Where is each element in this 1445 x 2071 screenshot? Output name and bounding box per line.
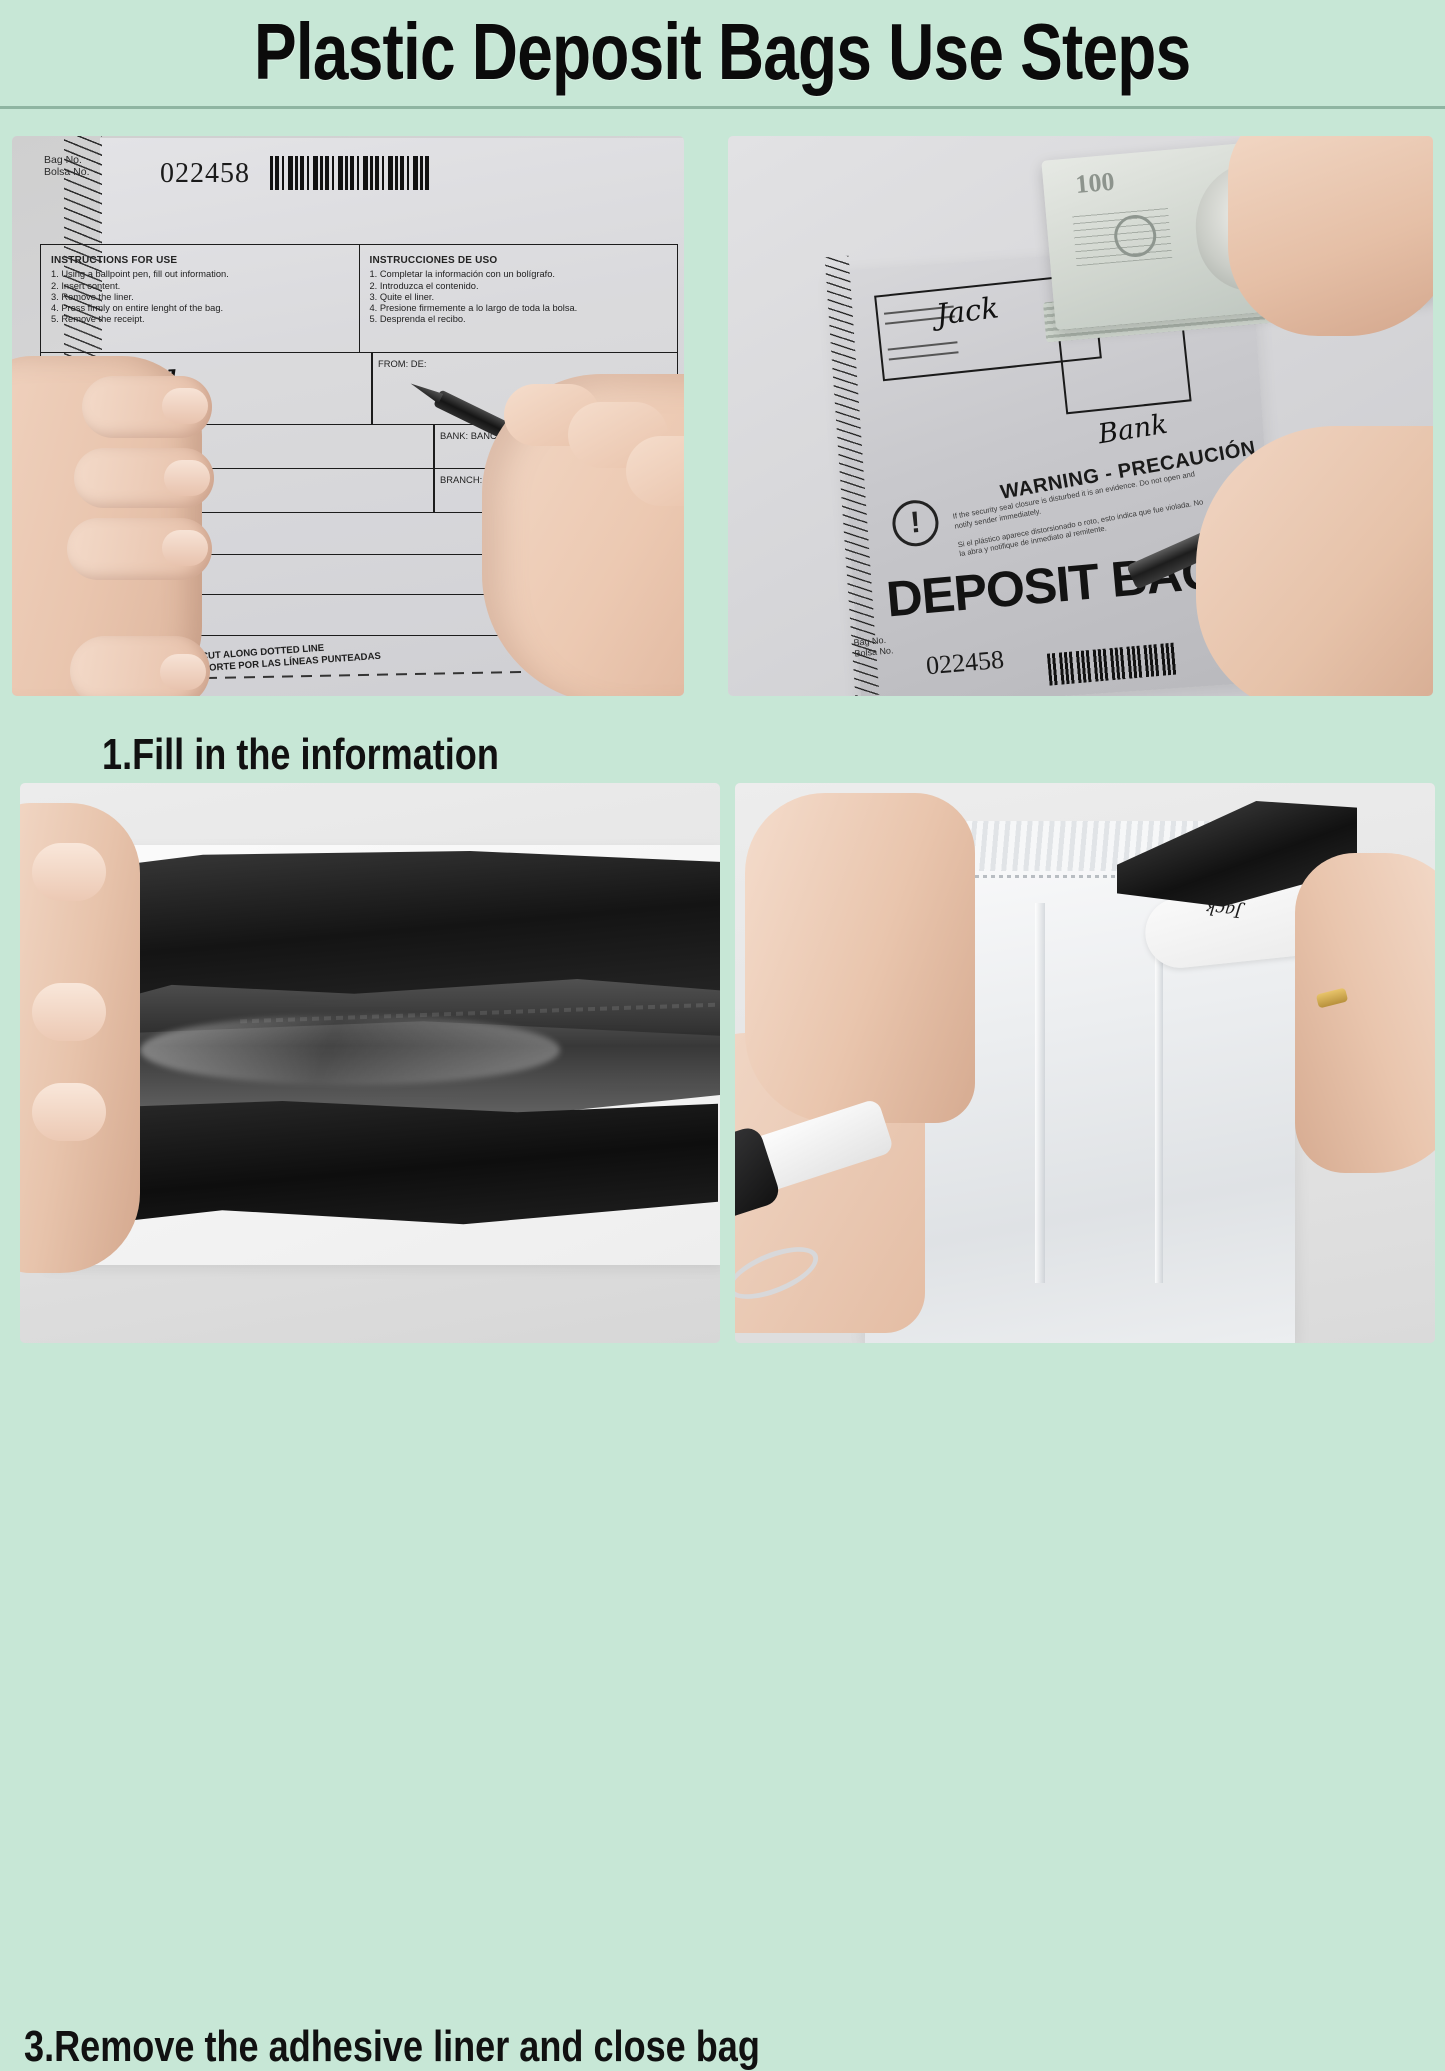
bag-no-label-es: Bolsa No. [44, 166, 90, 178]
step-1-photo: Bag No. Bolsa No. 022458 INSTRUCTIONS FO… [12, 136, 684, 696]
step-4-photo: Jack [735, 783, 1435, 1343]
instruction-item: 4. Presione firmemente a lo largo de tod… [370, 303, 670, 314]
instructions-block: INSTRUCTIONS FOR USE 1. Using a ballpoin… [41, 245, 677, 353]
bag-no-label-es: Bolsa No. [854, 645, 894, 658]
fingernail [160, 654, 206, 690]
hand-holding-cash [1228, 136, 1433, 336]
step-4-panel: Jack 4.Tear your receipt and send [735, 783, 1435, 1343]
fingernail [32, 1083, 106, 1141]
fingernail [162, 530, 208, 566]
instruction-item: 3. Quite el liner. [370, 292, 670, 303]
instruction-item: 1. Using a ballpoint pen, fill out infor… [51, 269, 351, 280]
instruction-item: 4. Press firmly on entire lenght of the … [51, 303, 351, 314]
instructions-es: INSTRUCCIONES DE USO 1. Completar la inf… [360, 245, 678, 352]
plastic-crease [1155, 943, 1163, 1283]
right-hand [1295, 853, 1435, 1173]
instruction-item: 2. Introduzca el contenido. [370, 281, 670, 292]
banknote-denomination: 100 [1074, 167, 1115, 200]
step-3-caption: 3.Remove the adhesive liner and close ba… [24, 2023, 760, 2071]
finger [74, 448, 214, 508]
fingernail [164, 460, 210, 496]
step-1-caption: 1.Fill in the information [102, 731, 499, 779]
instructions-en-heading: INSTRUCTIONS FOR USE [51, 255, 351, 266]
step-2-photo: Jack Bank ! WARNING - PRECAUCIÓN If the … [728, 136, 1433, 696]
page-title: Plastic Deposit Bags Use Steps [254, 12, 1190, 92]
bag-no-label: Bag No. Bolsa No. [853, 634, 894, 659]
barcode-icon [270, 156, 430, 190]
finger [82, 376, 212, 438]
page-header: Plastic Deposit Bags Use Steps [0, 0, 1445, 104]
instructions-en-list: 1. Using a ballpoint pen, fill out infor… [51, 269, 351, 325]
steps-grid: Bag No. Bolsa No. 022458 INSTRUCTIONS FO… [0, 118, 1445, 1445]
left-hand [745, 793, 975, 1123]
instructions-es-heading: INSTRUCCIONES DE USO [370, 255, 670, 266]
instruction-item: 1. Completar la información con un bolíg… [370, 269, 670, 280]
title-divider [0, 106, 1445, 109]
instruction-item: 5. Remove the receipt. [51, 314, 351, 325]
step-3-photo [20, 783, 720, 1343]
fingernail [32, 843, 106, 901]
plastic-gloss-highlight [140, 1015, 560, 1085]
fingernail [32, 983, 106, 1041]
bag-no-label-en: Bag No. [44, 154, 82, 166]
bag-number: 022458 [160, 158, 250, 190]
finger [67, 518, 212, 580]
instructions-en: INSTRUCTIONS FOR USE 1. Using a ballpoin… [41, 245, 360, 352]
step-2-panel: Jack Bank ! WARNING - PRECAUCIÓN If the … [728, 136, 1433, 696]
fingernail [162, 388, 208, 424]
field-label-from: FROM: DE: [378, 359, 426, 370]
instruction-item: 3. Remove the liner. [51, 292, 351, 303]
instructions-es-list: 1. Completar la información con un bolíg… [370, 269, 670, 325]
instruction-item: 5. Desprenda el recibo. [370, 314, 670, 325]
plastic-crease [1035, 903, 1045, 1283]
bag-header-row: Bag No. Bolsa No. 022458 [42, 146, 678, 242]
finger [70, 636, 210, 696]
step-3-panel: 3.Remove the adhesive liner and close ba… [20, 783, 720, 1343]
instruction-item: 2. Insert content. [51, 281, 351, 292]
bag-no-label: Bag No. Bolsa No. [44, 154, 90, 178]
step-1-panel: Bag No. Bolsa No. 022458 INSTRUCTIONS FO… [12, 136, 684, 696]
